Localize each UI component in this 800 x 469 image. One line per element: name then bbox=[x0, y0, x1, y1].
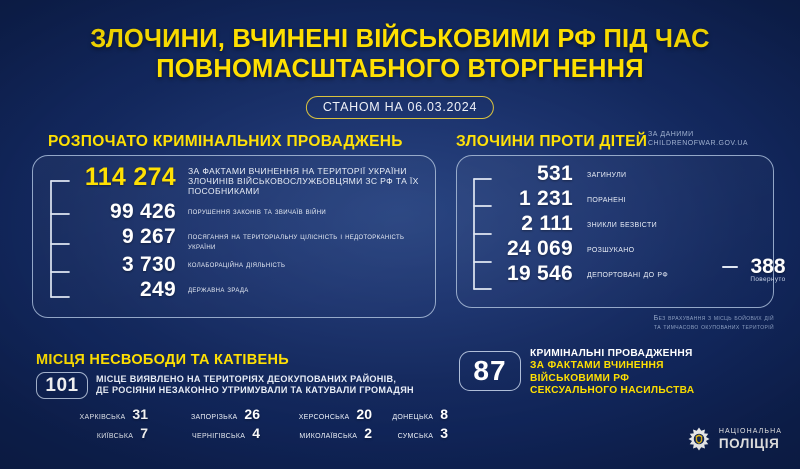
sexual-violence-line-1: КРИМІНАЛЬНІ ПРОВАДЖЕННЯ bbox=[530, 348, 780, 360]
section-heading-detention: МІСЦЯ НЕСВОБОДИ ТА КАТІВЕНЬ bbox=[36, 352, 289, 368]
region-kharkivska-value: 31 bbox=[132, 406, 148, 422]
region-sumska-value: 3 bbox=[440, 425, 448, 441]
section-heading-criminal-proceedings: РОЗПОЧАТО КРИМІНАЛЬНИХ ПРОВАДЖЕНЬ bbox=[48, 133, 403, 151]
police-logo-line-2: ПОЛІЦІЯ bbox=[719, 437, 782, 451]
region-kharkivska-name: Харківська bbox=[80, 411, 126, 421]
region-mykolaivska-name: Миколаївська bbox=[299, 430, 357, 440]
children-row-wounded-value: 1 231 bbox=[478, 188, 573, 210]
sexual-violence-line-3: ВІЙСЬКОВИМИ РФ bbox=[530, 373, 780, 385]
detention-count-badge: 101 bbox=[36, 372, 88, 399]
children-footnote-line-2: та тимчасово окупованих територій bbox=[456, 322, 774, 331]
children-row-missing: 2 111 Зникли безвісти bbox=[478, 213, 770, 235]
children-returned-label: Повернуто bbox=[738, 276, 798, 283]
region-zaporizka-value: 26 bbox=[244, 406, 260, 422]
children-row-missing-label: Зникли безвісти bbox=[573, 213, 657, 229]
children-row-killed-label: Загинули bbox=[573, 163, 626, 179]
children-row-deported-value: 19 546 bbox=[478, 263, 573, 285]
children-row-found-label: Розшукано bbox=[573, 238, 634, 254]
proceedings-row-war-laws-label: Порушення законів та звичаїв війни bbox=[176, 201, 326, 216]
region-donetska-value: 8 bbox=[440, 406, 448, 422]
proceedings-row-collaboration: 3 730 Колабораційна діяльність bbox=[60, 254, 430, 276]
children-row-missing-value: 2 111 bbox=[478, 213, 573, 235]
detention-description-line-2: ДЕ РОСІЯНИ НЕЗАКОННО УТРИМУВАЛИ ТА КАТУВ… bbox=[96, 385, 452, 396]
region-mykolaivska-value: 2 bbox=[364, 425, 372, 441]
title-line-1: ЗЛОЧИНИ, ВЧИНЕНІ ВІЙСЬКОВИМИ РФ ПІД ЧАС bbox=[90, 25, 709, 53]
children-row-found-value: 24 069 bbox=[478, 238, 573, 260]
infographic-root: ЗЛОЧИНИ, ВЧИНЕНІ ВІЙСЬКОВИМИ РФ ПІД ЧАС … bbox=[0, 0, 800, 469]
proceedings-row-total-value: 114 274 bbox=[60, 164, 176, 190]
children-row-killed-value: 531 bbox=[478, 163, 573, 185]
proceedings-row-territorial: 9 267 Посягання на територіальну цілісні… bbox=[60, 226, 430, 251]
proceedings-row-war-laws: 99 426 Порушення законів та звичаїв війн… bbox=[60, 201, 430, 223]
children-crimes-rows: 531 Загинули 1 231 Поранені 2 111 Зникли… bbox=[478, 163, 770, 288]
children-footnote: Без врахування з місць бойових дій та ти… bbox=[456, 313, 774, 331]
returned-connector-line bbox=[722, 266, 738, 268]
region-chernihivska-name: Чернігівська bbox=[192, 430, 245, 440]
proceedings-row-total-label: ЗА ФАКТАМИ ВЧИНЕННЯ НА ТЕРИТОРІЇ УКРАЇНИ… bbox=[176, 164, 430, 197]
proceedings-row-war-laws-value: 99 426 bbox=[60, 201, 176, 223]
children-row-found: 24 069 Розшукано bbox=[478, 238, 770, 260]
region-zaporizka-name: Запорізька bbox=[191, 411, 237, 421]
region-donetska-name: Донецька bbox=[392, 411, 433, 421]
children-row-wounded: 1 231 Поранені bbox=[478, 188, 770, 210]
title-line-2: ПОВНОМАСШТАБНОГО ВТОРГНЕННЯ bbox=[0, 54, 800, 84]
region-khersonska-value: 20 bbox=[356, 406, 372, 422]
detention-description-line-1: МІСЦЕ ВИЯВЛЕНО НА ТЕРИТОРІЯХ ДЕОКУПОВАНИ… bbox=[96, 374, 452, 385]
region-chernihivska: Чернігівська 4 bbox=[148, 425, 260, 441]
proceedings-row-treason-value: 249 bbox=[60, 279, 176, 301]
sexual-violence-description: КРИМІНАЛЬНІ ПРОВАДЖЕННЯ ЗА ФАКТАМИ ВЧИНЕ… bbox=[530, 348, 780, 398]
national-police-logo: НАЦІОНАЛЬНА ПОЛІЦІЯ bbox=[687, 427, 782, 451]
children-returned-value: 388 bbox=[738, 256, 798, 277]
children-row-deported-label: Депортовані до РФ bbox=[573, 263, 668, 279]
children-returned-stat: 388 Повернуто bbox=[738, 256, 798, 283]
region-donetska: Донецька 8 bbox=[372, 406, 448, 422]
region-sumska-name: Сумська bbox=[398, 430, 434, 440]
region-kyivska-value: 7 bbox=[140, 425, 148, 441]
children-source-note: ЗА ДАНИМИ CHILDRENOFWAR.GOV.UA bbox=[648, 131, 748, 148]
proceedings-row-total: 114 274 ЗА ФАКТАМИ ВЧИНЕННЯ НА ТЕРИТОРІЇ… bbox=[60, 164, 430, 197]
date-badge: СТАНОМ НА 06.03.2024 bbox=[306, 96, 494, 119]
proceedings-row-collaboration-value: 3 730 bbox=[60, 254, 176, 276]
section-heading-children: ЗЛОЧИНИ ПРОТИ ДІТЕЙ bbox=[456, 133, 647, 151]
region-zaporizka: Запорізька 26 bbox=[148, 406, 260, 422]
proceedings-row-territorial-label: Посягання на територіальну цілісність і … bbox=[176, 226, 430, 251]
region-kyivska-name: Київська bbox=[97, 430, 133, 440]
page-title: ЗЛОЧИНИ, ВЧИНЕНІ ВІЙСЬКОВИМИ РФ ПІД ЧАС … bbox=[0, 24, 800, 84]
police-logo-line-1: НАЦІОНАЛЬНА bbox=[719, 428, 782, 435]
region-kharkivska: Харківська 31 bbox=[28, 406, 148, 422]
region-kyivska: Київська 7 bbox=[28, 425, 148, 441]
detention-regions-row-1: Харківська 31 Запорізька 26 Херсонська 2… bbox=[28, 406, 448, 422]
region-khersonska-name: Херсонська bbox=[299, 411, 350, 421]
source-line-2: CHILDRENOFWAR.GOV.UA bbox=[648, 140, 748, 149]
region-chernihivska-value: 4 bbox=[252, 425, 260, 441]
sexual-violence-line-2: ЗА ФАКТАМИ ВЧИНЕННЯ bbox=[530, 360, 780, 372]
children-row-killed: 531 Загинули bbox=[478, 163, 770, 185]
children-row-wounded-label: Поранені bbox=[573, 188, 626, 204]
source-line-1: ЗА ДАНИМИ bbox=[648, 131, 748, 140]
proceedings-row-treason-label: Державна зрада bbox=[176, 279, 249, 294]
sexual-violence-count-badge: 87 bbox=[459, 351, 521, 391]
region-mykolaivska: Миколаївська 2 bbox=[260, 425, 372, 441]
criminal-proceedings-rows: 114 274 ЗА ФАКТАМИ ВЧИНЕННЯ НА ТЕРИТОРІЇ… bbox=[60, 164, 430, 303]
proceedings-row-territorial-value: 9 267 bbox=[60, 226, 176, 248]
proceedings-row-treason: 249 Державна зрада bbox=[60, 279, 430, 301]
region-sumska: Сумська 3 bbox=[372, 425, 448, 441]
detention-regions-row-2: Київська 7 Чернігівська 4 Миколаївська 2… bbox=[28, 425, 448, 441]
police-logo-text: НАЦІОНАЛЬНА ПОЛІЦІЯ bbox=[719, 428, 782, 451]
proceedings-row-collaboration-label: Колабораційна діяльність bbox=[176, 254, 285, 269]
detention-description: МІСЦЕ ВИЯВЛЕНО НА ТЕРИТОРІЯХ ДЕОКУПОВАНИ… bbox=[96, 374, 452, 397]
sexual-violence-line-4: СЕКСУАЛЬНОГО НАСИЛЬСТВА bbox=[530, 385, 780, 397]
detention-regions-list: Харківська 31 Запорізька 26 Херсонська 2… bbox=[28, 406, 448, 441]
region-khersonska: Херсонська 20 bbox=[260, 406, 372, 422]
police-emblem-icon bbox=[687, 427, 711, 451]
children-footnote-line-1: Без врахування з місць бойових дій bbox=[456, 313, 774, 322]
